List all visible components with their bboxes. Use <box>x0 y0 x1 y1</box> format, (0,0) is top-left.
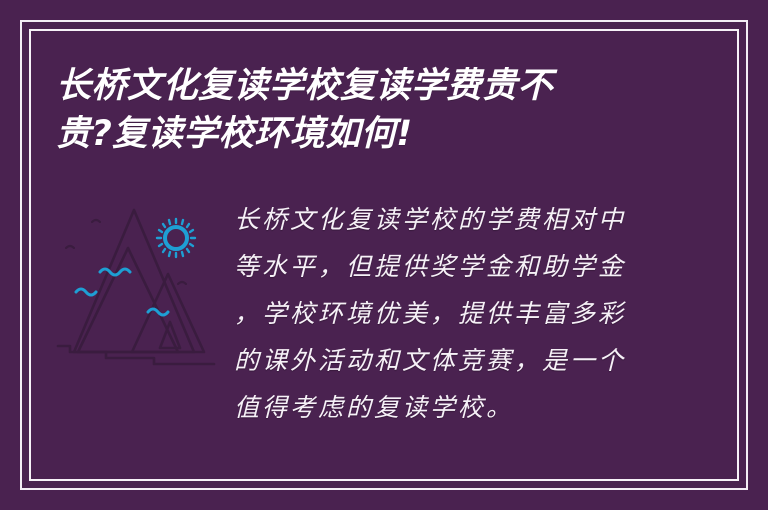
mountain-left-icon <box>78 248 178 352</box>
body-line-1: 长桥文化复读学校的学费相对中 <box>234 196 712 243</box>
headline: 长桥文化复读学校复读学费贵不 贵?复读学校环境如何! <box>56 62 696 158</box>
headline-line-1: 长桥文化复读学校复读学费贵不 <box>56 62 696 110</box>
body-line-5: 值得考虑的复读学校。 <box>234 384 712 431</box>
bird-2-icon <box>66 246 74 248</box>
body-paragraph: 长桥文化复读学校的学费相对中 等水平，但提供奖学金和助学金 ，学校环境优美，提供… <box>234 196 712 431</box>
ground-line-icon <box>58 346 214 364</box>
body-line-3: ，学校环境优美，提供丰富多彩 <box>234 290 712 337</box>
bird-3-icon <box>178 282 186 284</box>
mountain-large-icon <box>74 210 194 352</box>
body-line-4: 的课外活动和文体竞赛，是一个 <box>234 337 712 384</box>
bird-1-icon <box>92 220 100 222</box>
sun-icon <box>157 219 195 257</box>
banner-canvas: 长桥文化复读学校复读学费贵不 贵?复读学校环境如何! <box>0 0 768 510</box>
snowcap-large-icon <box>100 269 130 275</box>
snowcap-left-icon <box>76 289 96 295</box>
body-line-2: 等水平，但提供奖学金和助学金 <box>234 243 712 290</box>
headline-line-2: 贵?复读学校环境如何! <box>56 110 696 158</box>
content-row: 长桥文化复读学校的学费相对中 等水平，但提供奖学金和助学金 ，学校环境优美，提供… <box>56 196 712 431</box>
mountains-with-sun-icon <box>56 200 216 368</box>
